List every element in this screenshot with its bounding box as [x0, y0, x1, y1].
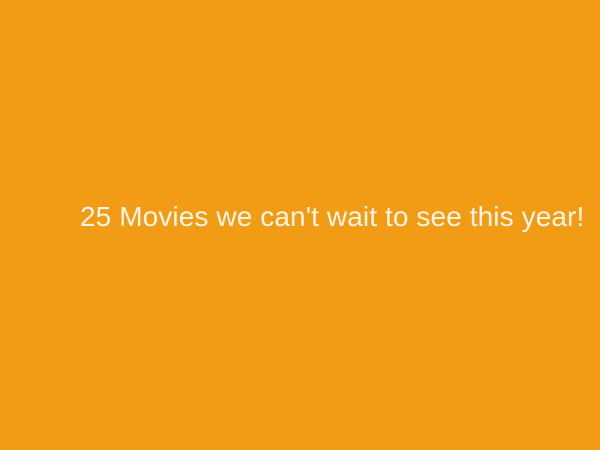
headline-title: 25 Movies we can't wait to see this year… [80, 200, 584, 234]
headline-block: 25 Movies we can't wait to see this year… [0, 0, 600, 450]
headline-card: 25 Movies we can't wait to see this year… [0, 0, 600, 450]
